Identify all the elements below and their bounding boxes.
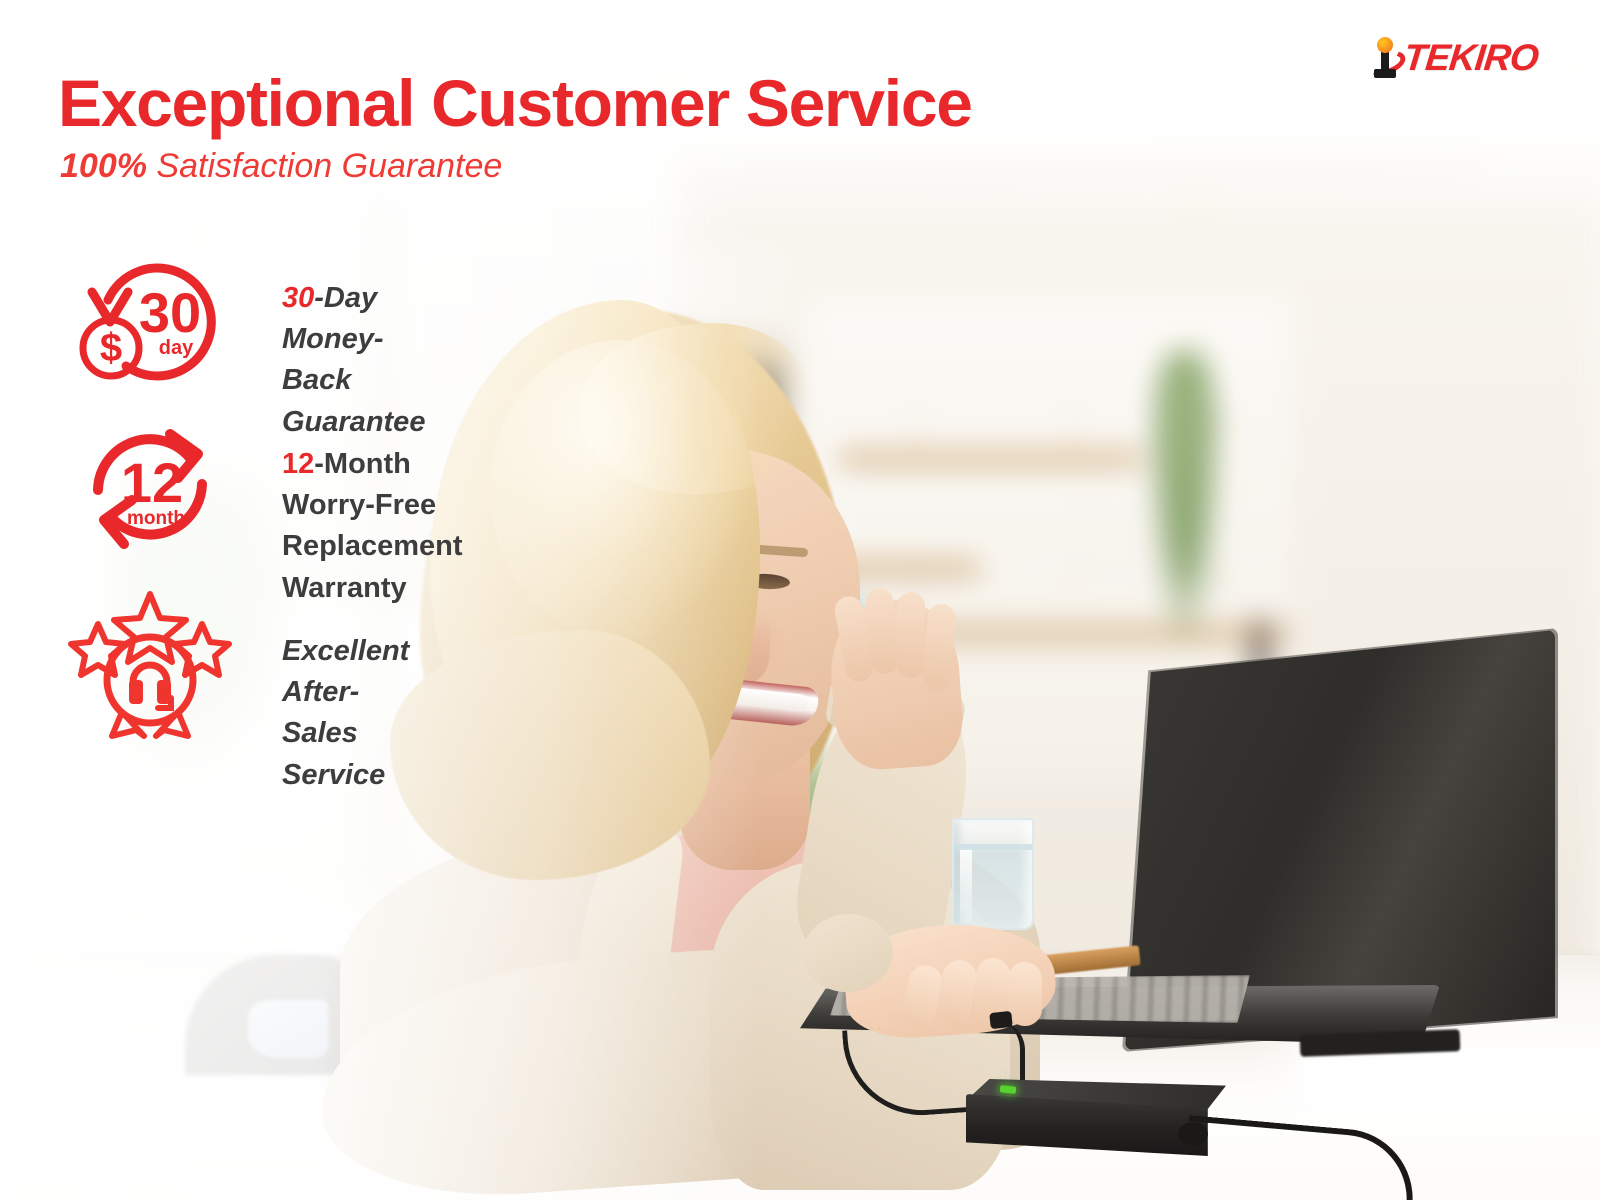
tekiro-lamp-icon bbox=[1368, 36, 1402, 80]
brand-logo-text: TEKIRO bbox=[1402, 37, 1540, 79]
circular-arrow-dollar-30-day-icon: $ 30 day bbox=[78, 248, 238, 398]
feature-after-sales-label: Excellent After-Sales Service bbox=[282, 631, 409, 796]
feature-warranty-label: 12-Month Worry-Free Replacement Warranty bbox=[282, 444, 463, 609]
brand-logo: TEKIRO bbox=[1368, 36, 1538, 80]
award-badge-headset-stars-icon bbox=[78, 586, 238, 736]
page-subtitle: 100% Satisfaction Guarantee bbox=[60, 147, 502, 186]
svg-text:12: 12 bbox=[121, 451, 183, 514]
svg-text:30: 30 bbox=[139, 281, 201, 344]
svg-text:month: month bbox=[127, 508, 185, 529]
feature-money-back-highlight: 30 bbox=[282, 282, 314, 314]
svg-text:$: $ bbox=[100, 326, 122, 370]
feature-warranty-highlight: 12 bbox=[282, 448, 314, 480]
feature-after-sales-text: Excellent After-Sales Service bbox=[282, 635, 409, 791]
circular-refresh-12-month-icon: 12 month bbox=[78, 412, 238, 562]
page-title: Exceptional Customer Service bbox=[58, 70, 972, 136]
feature-warranty: 12 month 12-Month Worry-Free Replacement… bbox=[78, 412, 463, 609]
feature-after-sales: Excellent After-Sales Service bbox=[78, 586, 409, 796]
subtitle-bold: 100% bbox=[60, 147, 147, 185]
promo-banner: TEKIRO Exceptional Customer Service 100%… bbox=[0, 0, 1600, 1200]
svg-text:day: day bbox=[159, 337, 194, 359]
subtitle-rest: Satisfaction Guarantee bbox=[147, 147, 502, 185]
